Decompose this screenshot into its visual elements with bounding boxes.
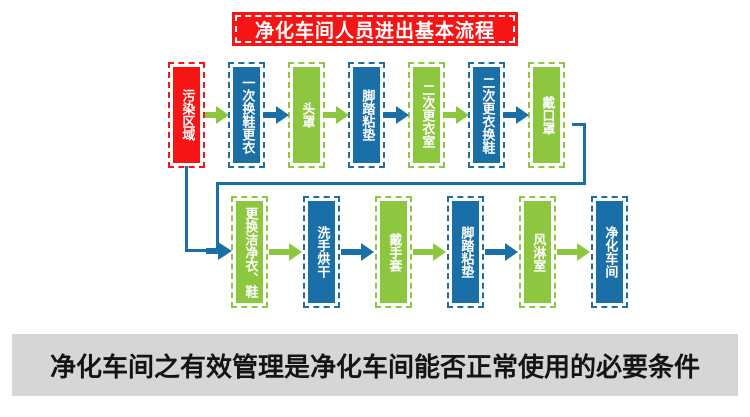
flow-node-label: 风淋室 [531, 233, 545, 272]
node-fill: 风淋室 [524, 201, 551, 303]
flow-node-n1[interactable]: 污染区域 [168, 62, 205, 168]
node-fill: 洗手烘干 [308, 201, 335, 303]
flow-node-n4[interactable]: 脚踏粘垫 [348, 62, 385, 168]
flow-node-n6[interactable]: 二次更衣换鞋 [468, 62, 505, 168]
connector-n1-to-n8-segment-v [185, 166, 188, 252]
connector-n7-to-n8-segment-v-right [583, 123, 586, 185]
flow-node-label: 二次更衣室 [420, 83, 434, 148]
diagram-title-banner: 净化车间人员进出基本流程 [232, 12, 518, 46]
flow-node-n7[interactable]: 戴口罩 [528, 62, 565, 168]
node-fill: 脚踏粘垫 [452, 201, 479, 303]
flow-node-n11[interactable]: 脚踏粘垫 [447, 196, 484, 308]
arrow-n12-to-n13 [557, 243, 590, 261]
flow-node-label: 脚踏粘垫 [360, 89, 374, 141]
flow-node-label: 一次换鞋更衣 [240, 76, 254, 154]
arrow-n1-to-n2 [205, 106, 229, 124]
flow-node-label: 戴手套 [387, 233, 401, 272]
flow-node-label: 净化车间 [603, 226, 617, 278]
flow-node-label: 脚踏粘垫 [459, 226, 473, 278]
node-fill: 戴手套 [380, 201, 407, 303]
flow-node-label: 二次更衣换鞋 [480, 76, 494, 154]
flow-node-label: 头罩 [300, 102, 314, 128]
arrow-n4-to-n5 [385, 106, 409, 124]
arrow-n5-to-n6 [445, 106, 469, 124]
node-fill: 净化车间 [596, 201, 623, 303]
flow-node-n13[interactable]: 净化车间 [591, 196, 628, 308]
node-fill: 戴口罩 [533, 67, 560, 163]
caption-text: 净化车间之有效管理是净化车间能否正常使用的必要条件 [50, 347, 700, 384]
arrow-n2-to-n3 [265, 106, 289, 124]
arrow-n8-to-n9 [269, 243, 302, 261]
flow-node-n5[interactable]: 二次更衣室 [408, 62, 445, 168]
connector-n7-to-n8-segment-h-long [216, 182, 586, 185]
arrow-n9-to-n10 [341, 243, 374, 261]
node-fill: 脚踏粘垫 [353, 67, 380, 163]
arrow-n3-to-n4 [325, 106, 349, 124]
flow-node-n3[interactable]: 头罩 [288, 62, 325, 168]
caption-band: 净化车间之有效管理是净化车间能否正常使用的必要条件 [12, 334, 738, 396]
flow-node-label: 戴口罩 [540, 96, 554, 135]
node-fill: 一次换鞋更衣 [233, 67, 260, 163]
arrow-n6-to-n7 [505, 106, 529, 124]
flow-node-label: 洗手烘干 [315, 226, 329, 278]
flow-node-n8[interactable]: 更换洁净衣、鞋 [231, 196, 268, 308]
node-fill: 污染区域 [173, 67, 200, 163]
arrow-n11-to-n12 [485, 243, 518, 261]
flow-node-label: 污染区域 [180, 89, 194, 141]
page-title: 净化车间人员进出基本流程 [255, 16, 495, 43]
arrow-n10-to-n11 [413, 243, 446, 261]
flow-node-n10[interactable]: 戴手套 [375, 196, 412, 308]
node-fill: 更换洁净衣、鞋 [236, 201, 263, 303]
arrow-into-n8 [206, 241, 232, 261]
node-fill: 二次更衣室 [413, 67, 440, 163]
flow-node-n2[interactable]: 一次换鞋更衣 [228, 62, 265, 168]
flow-node-n9[interactable]: 洗手烘干 [303, 196, 340, 308]
node-fill: 二次更衣换鞋 [473, 67, 500, 163]
flow-node-n12[interactable]: 风淋室 [519, 196, 556, 308]
node-fill: 头罩 [293, 67, 320, 163]
flow-node-label: 更换洁净衣、鞋 [243, 207, 257, 298]
flowchart-canvas: 污染区域 一次换鞋更衣 头罩 脚踏粘垫 二次更衣室 二次更衣换鞋 [0, 0, 750, 330]
